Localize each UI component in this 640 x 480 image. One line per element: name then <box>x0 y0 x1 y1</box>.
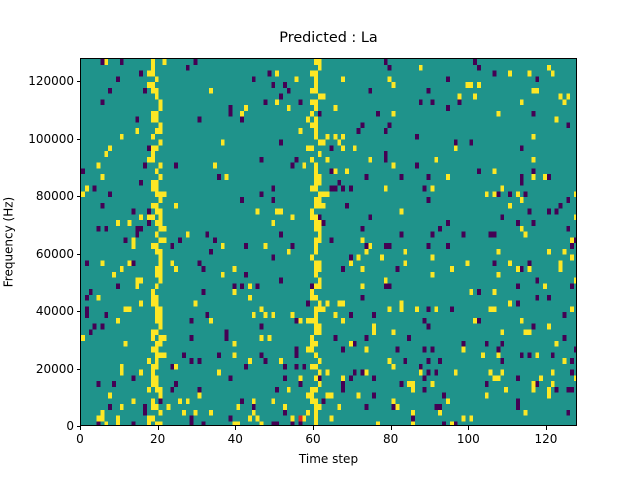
y-axis-label-text: Frequency (Hz) <box>1 197 15 288</box>
y-tick-mark <box>77 369 81 370</box>
x-tick-label: 0 <box>76 432 84 446</box>
x-tick-mark <box>80 426 81 430</box>
y-tick-mark <box>77 426 81 427</box>
x-tick-label: 40 <box>228 432 243 446</box>
x-tick-label: 60 <box>305 432 320 446</box>
y-tick-mark <box>77 139 81 140</box>
y-tick-label: 100000 <box>28 132 74 146</box>
matplotlib-figure: Predicted : La 0204060801001200200004000… <box>0 0 640 480</box>
y-tick-label: 80000 <box>36 189 74 203</box>
x-tick-mark <box>468 426 469 430</box>
page-title: Predicted : La <box>80 30 577 46</box>
x-tick-mark <box>546 426 547 430</box>
x-tick-label: 20 <box>150 432 165 446</box>
y-tick-label: 20000 <box>36 362 74 376</box>
y-tick-label: 120000 <box>28 74 74 88</box>
y-tick-mark <box>77 254 81 255</box>
y-tick-mark <box>77 196 81 197</box>
y-tick-label: 40000 <box>36 304 74 318</box>
x-tick-label: 120 <box>534 432 557 446</box>
x-tick-mark <box>313 426 314 430</box>
y-tick-mark <box>77 311 81 312</box>
y-tick-label: 60000 <box>36 247 74 261</box>
y-tick-label: 0 <box>66 419 74 433</box>
x-tick-mark <box>158 426 159 430</box>
x-tick-label: 80 <box>383 432 398 446</box>
x-axis-label: Time step <box>80 452 577 466</box>
x-tick-mark <box>235 426 236 430</box>
x-tick-label: 100 <box>457 432 480 446</box>
heatmap-image <box>81 59 577 426</box>
y-tick-mark <box>77 81 81 82</box>
y-axis-label: Frequency (Hz) <box>0 58 16 426</box>
heatmap-plot-area <box>80 58 577 426</box>
x-tick-mark <box>391 426 392 430</box>
